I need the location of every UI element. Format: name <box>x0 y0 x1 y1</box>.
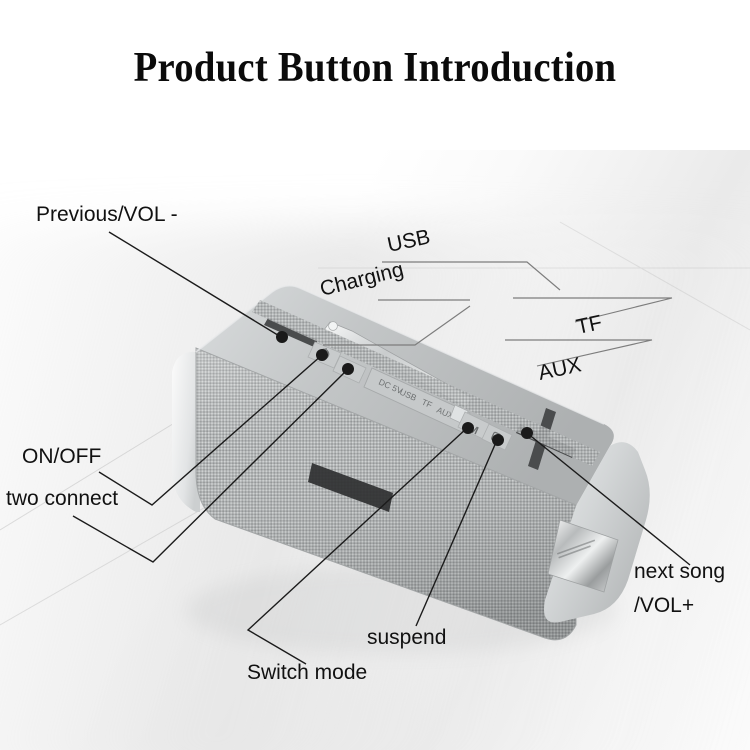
callout-label-vol-plus: /VOL+ <box>634 594 694 617</box>
callout-label-previous-vol-minus: Previous/VOL - <box>36 203 178 226</box>
anchor-dot-power <box>316 349 328 361</box>
callout-label-suspend: suspend <box>367 626 446 649</box>
callout-label-aux: AUX <box>536 353 583 384</box>
anchor-dot-mode <box>462 422 474 434</box>
anchor-dot-previous <box>276 331 288 343</box>
callout-label-tf: TF <box>574 311 604 339</box>
callout-label-two-connect: two connect <box>6 487 118 510</box>
callout-label-switch-mode: Switch mode <box>247 661 367 684</box>
product-diagram-page: Product Button Introduction <box>0 0 750 750</box>
anchor-dot-two-connect <box>342 363 354 375</box>
leader-previous-vol-minus <box>109 232 281 337</box>
callout-label-usb: USB <box>385 225 432 256</box>
product-callout-diagram: DC 5V USB TF AUX M <box>0 0 750 750</box>
charging-led <box>329 322 338 331</box>
anchor-dot-next-song <box>521 427 533 439</box>
anchor-dot-suspend <box>492 434 504 446</box>
callout-label-on-off: ON/OFF <box>22 445 101 468</box>
leader-usb-upper <box>382 262 560 290</box>
callout-label-charging: Charging <box>318 258 406 301</box>
callout-label-next-song: next song <box>634 560 725 583</box>
